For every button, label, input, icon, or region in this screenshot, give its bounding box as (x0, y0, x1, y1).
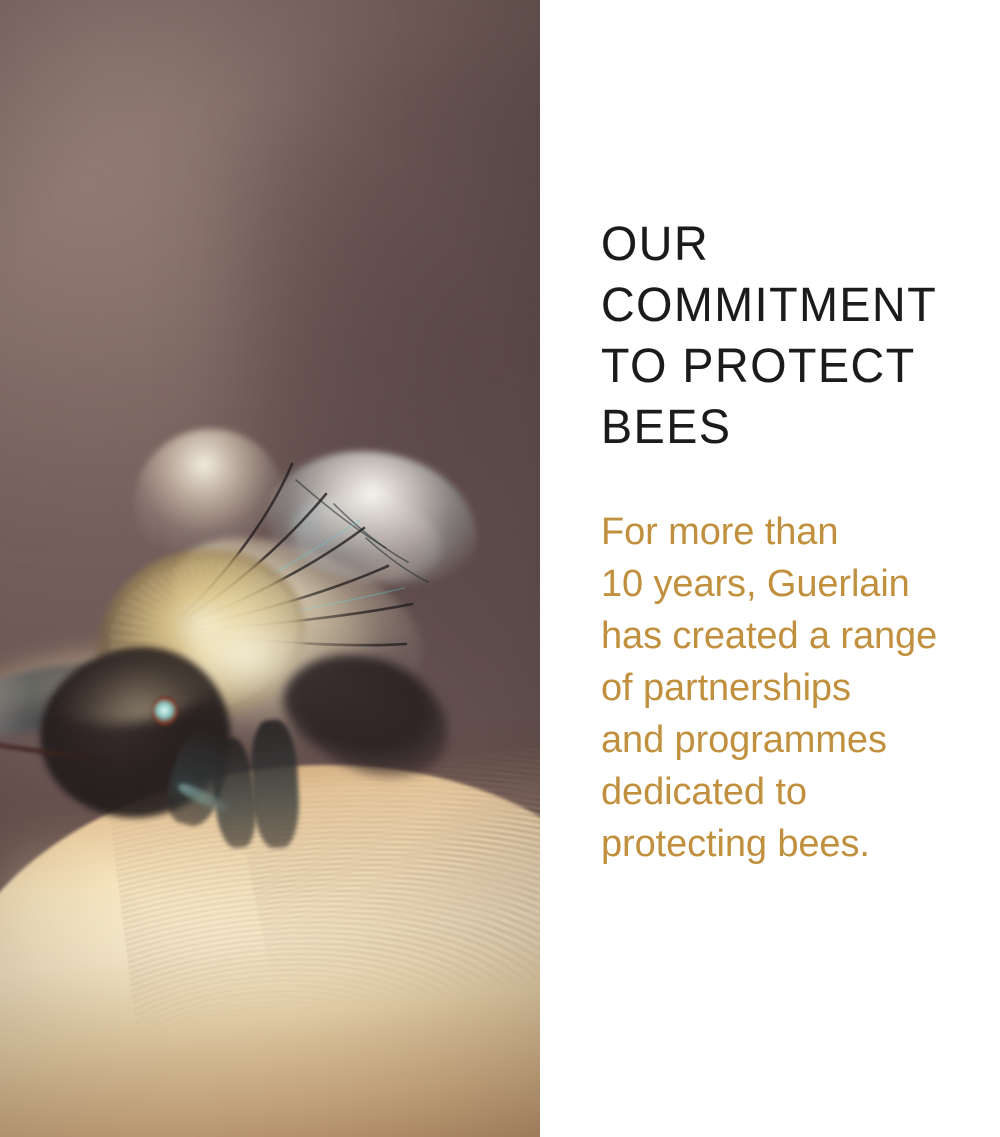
body-line-3: has created a range (601, 610, 997, 662)
body-line-4: of partnerships (601, 662, 997, 714)
promo-page: OUR COMMITMENT TO PROTECT BEES For more … (0, 0, 1000, 1137)
headline-line-2: COMMITMENT (601, 275, 981, 336)
page-title: OUR COMMITMENT TO PROTECT BEES (601, 214, 981, 458)
headline-line-3: TO PROTECT (601, 336, 981, 397)
body-paragraph: For more than 10 years, Guerlain has cre… (601, 506, 997, 870)
bee-photo-panel (0, 0, 540, 1137)
body-line-5: and programmes (601, 714, 997, 766)
body-line-6: dedicated to (601, 766, 997, 818)
body-line-2: 10 years, Guerlain (601, 558, 997, 610)
body-line-1: For more than (601, 506, 997, 558)
body-line-7: protecting bees. (601, 818, 997, 870)
photo-vignette (0, 0, 540, 1137)
text-panel: OUR COMMITMENT TO PROTECT BEES For more … (540, 0, 1000, 1137)
headline-line-1: OUR (601, 214, 981, 275)
headline-line-4: BEES (601, 397, 981, 458)
photo-stage (0, 0, 540, 1137)
